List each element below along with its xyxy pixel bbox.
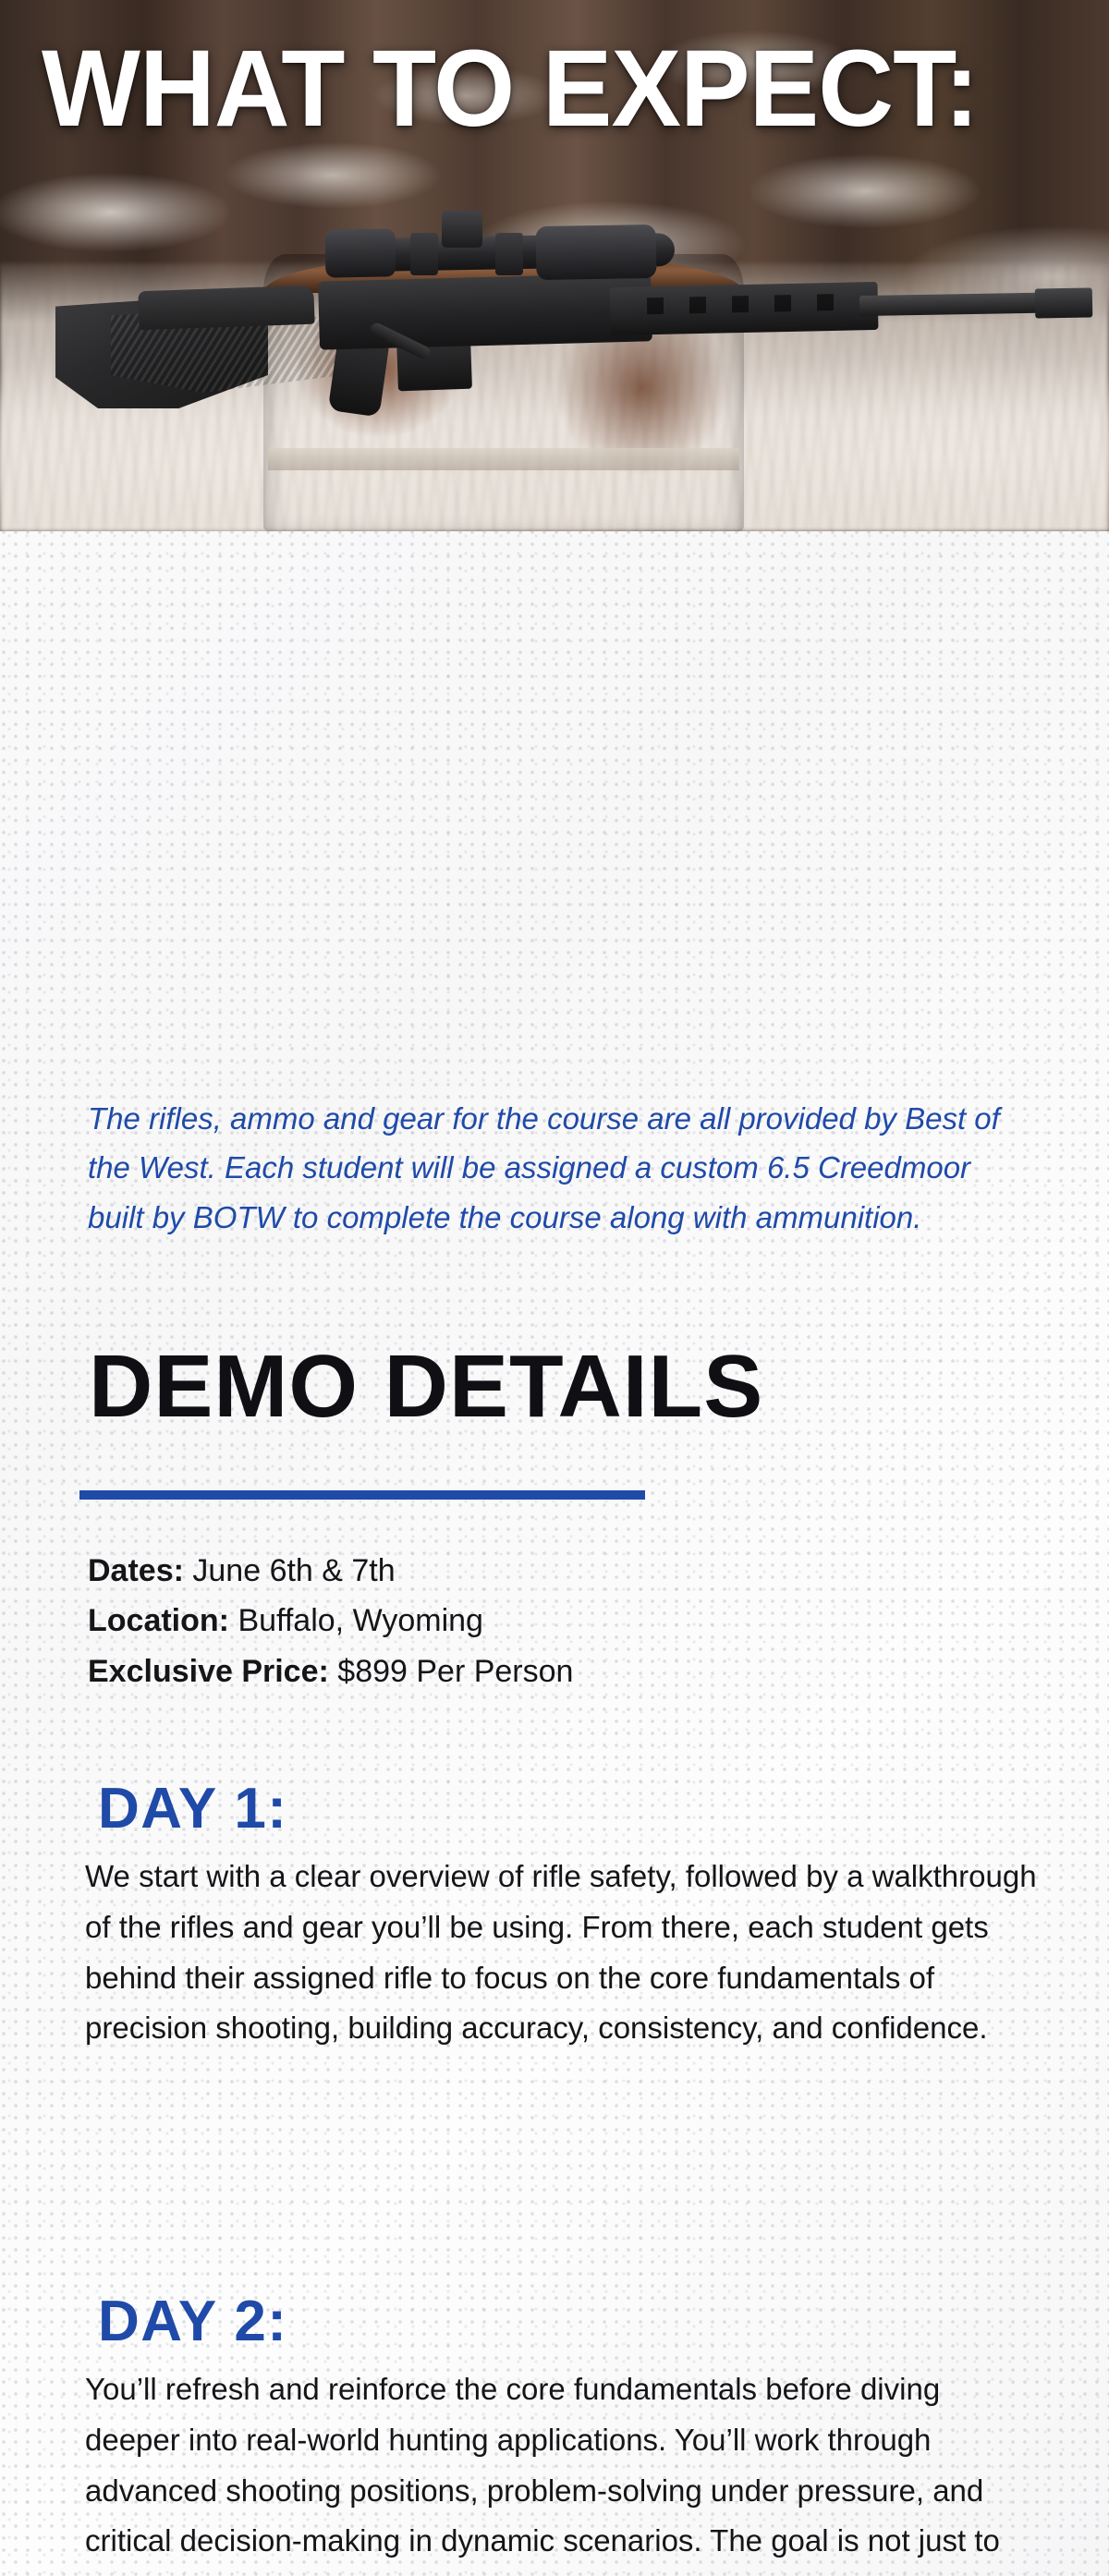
scope-ring [495,233,523,275]
hero-banner: WHAT TO EXPECT: [0,0,1109,531]
day-2-body: You’ll refresh and reinforce the core fu… [85,2364,1037,2576]
day-1-body: We start with a clear overview of rifle … [85,1852,1037,2054]
scope-eyepiece [325,228,396,277]
scope-ring [410,233,438,275]
fact-row-location: Location: Buffalo, Wyoming [88,1596,1021,1646]
muzzle-brake [1035,287,1093,318]
fact-row-price: Exclusive Price: $899 Per Person [88,1646,1021,1696]
fact-row-dates: Dates: June 6th & 7th [88,1546,1021,1596]
fact-value: $899 Per Person [337,1654,573,1689]
intro-paragraph: The rifles, ammo and gear for the course… [88,1094,1021,1242]
fact-value: June 6th & 7th [192,1553,395,1588]
details-fact-list: Dates: June 6th & 7th Location: Buffalo,… [88,1546,1021,1696]
day-1-section: DAY 1: We start with a clear overview of… [0,1779,1109,2054]
day-2-title: DAY 2: [98,2291,1109,2351]
demo-details-heading: DEMO DETAILS [89,1343,763,1431]
fact-label: Dates: [88,1553,184,1588]
scope-elevation-turret [442,211,482,248]
day-2-section: DAY 2: You’ll refresh and reinforce the … [0,2291,1109,2576]
fact-label: Exclusive Price: [88,1654,329,1689]
scope-objective-bell [536,225,657,280]
email-page: WHAT TO EXPECT: The rifles, ammo and gea… [0,0,1109,2576]
rifle-cheek-riser [138,286,314,331]
fact-label: Location: [88,1603,229,1638]
hero-title: WHAT TO EXPECT: [42,31,979,147]
fact-value: Buffalo, Wyoming [238,1603,483,1638]
rifle-action [318,273,652,349]
heading-divider-rule [79,1490,645,1500]
day-1-title: DAY 1: [98,1779,1109,1839]
